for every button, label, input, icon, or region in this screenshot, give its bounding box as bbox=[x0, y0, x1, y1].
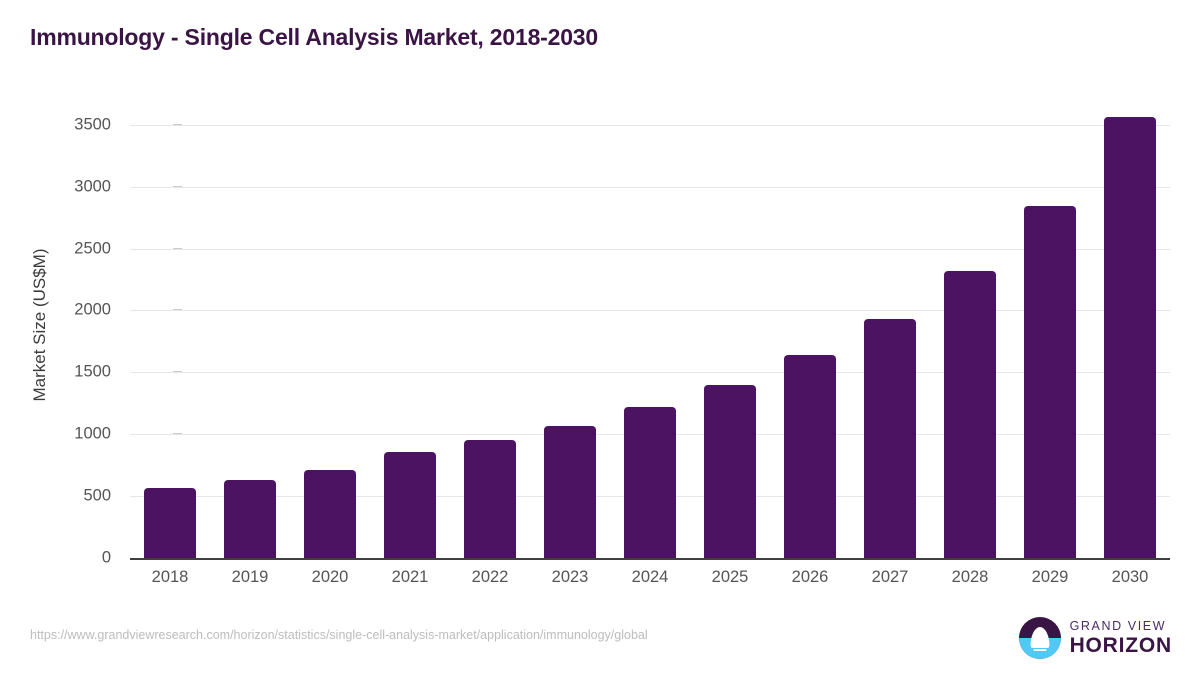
bar[interactable] bbox=[704, 385, 756, 558]
logo-top-text: GRAND VIEW bbox=[1070, 620, 1172, 633]
logo-sun-dome-shape bbox=[1030, 627, 1049, 646]
y-tick-label: 2500 bbox=[74, 239, 111, 258]
bar[interactable] bbox=[944, 271, 996, 558]
y-axis-ticks: 0500100015002000250030003500 bbox=[55, 100, 111, 560]
bar-slot bbox=[930, 100, 1010, 558]
bar[interactable] bbox=[384, 452, 436, 558]
sunrise-circle-icon bbox=[1019, 617, 1061, 659]
source-url[interactable]: https://www.grandviewresearch.com/horizo… bbox=[30, 628, 648, 642]
y-tick-label: 0 bbox=[102, 549, 111, 568]
bar-slot bbox=[530, 100, 610, 558]
x-axis-line bbox=[130, 558, 1170, 560]
bar-slot bbox=[450, 100, 530, 558]
bar[interactable] bbox=[304, 470, 356, 558]
x-tick-label: 2030 bbox=[1112, 568, 1149, 587]
y-tick-label: 3500 bbox=[74, 115, 111, 134]
x-tick-label: 2020 bbox=[312, 568, 349, 587]
bar[interactable] bbox=[224, 480, 276, 558]
bar[interactable] bbox=[864, 319, 916, 558]
bar-slot bbox=[690, 100, 770, 558]
x-tick-label: 2029 bbox=[1032, 568, 1069, 587]
bar[interactable] bbox=[784, 355, 836, 558]
bar-slot bbox=[370, 100, 450, 558]
y-tick-label: 1500 bbox=[74, 363, 111, 382]
bar[interactable] bbox=[1024, 206, 1076, 558]
y-tick-label: 1000 bbox=[74, 425, 111, 444]
bar[interactable] bbox=[544, 426, 596, 558]
bar-slot bbox=[1090, 100, 1170, 558]
bar-slot bbox=[850, 100, 930, 558]
y-tick-label: 3000 bbox=[74, 177, 111, 196]
x-tick-label: 2026 bbox=[792, 568, 829, 587]
chart-page: Immunology - Single Cell Analysis Market… bbox=[0, 0, 1200, 675]
y-tick-label: 2000 bbox=[74, 301, 111, 320]
y-axis-title: Market Size (US$M) bbox=[30, 135, 50, 515]
bar-slot bbox=[130, 100, 210, 558]
x-tick-label: 2027 bbox=[872, 568, 909, 587]
x-tick-label: 2023 bbox=[552, 568, 589, 587]
bar[interactable] bbox=[464, 440, 516, 558]
logo-bottom-text: HORIZON bbox=[1070, 635, 1172, 656]
x-tick-label: 2022 bbox=[472, 568, 509, 587]
bar-slot bbox=[210, 100, 290, 558]
x-tick-label: 2018 bbox=[152, 568, 189, 587]
x-tick-label: 2019 bbox=[232, 568, 269, 587]
bar-slot bbox=[770, 100, 850, 558]
bar[interactable] bbox=[144, 488, 196, 558]
x-tick-label: 2028 bbox=[952, 568, 989, 587]
logo-ray-1 bbox=[1031, 645, 1049, 648]
bar-slot bbox=[610, 100, 690, 558]
logo-text: GRAND VIEW HORIZON bbox=[1070, 620, 1172, 657]
bar-slot bbox=[1010, 100, 1090, 558]
plot-area: Market Size (US$M) 050010001500200025003… bbox=[0, 100, 1200, 600]
y-tick-label: 500 bbox=[83, 487, 111, 506]
bar[interactable] bbox=[624, 407, 676, 558]
x-axis-labels: 2018201920202021202220232024202520262027… bbox=[130, 568, 1170, 598]
grand-view-horizon-logo[interactable]: GRAND VIEW HORIZON bbox=[1019, 617, 1172, 659]
bar-series bbox=[130, 100, 1170, 558]
bar-slot bbox=[290, 100, 370, 558]
x-tick-label: 2024 bbox=[632, 568, 669, 587]
x-tick-label: 2025 bbox=[712, 568, 749, 587]
x-tick-label: 2021 bbox=[392, 568, 429, 587]
bar[interactable] bbox=[1104, 117, 1156, 558]
logo-ray-2 bbox=[1033, 649, 1046, 652]
page-title: Immunology - Single Cell Analysis Market… bbox=[30, 24, 598, 51]
